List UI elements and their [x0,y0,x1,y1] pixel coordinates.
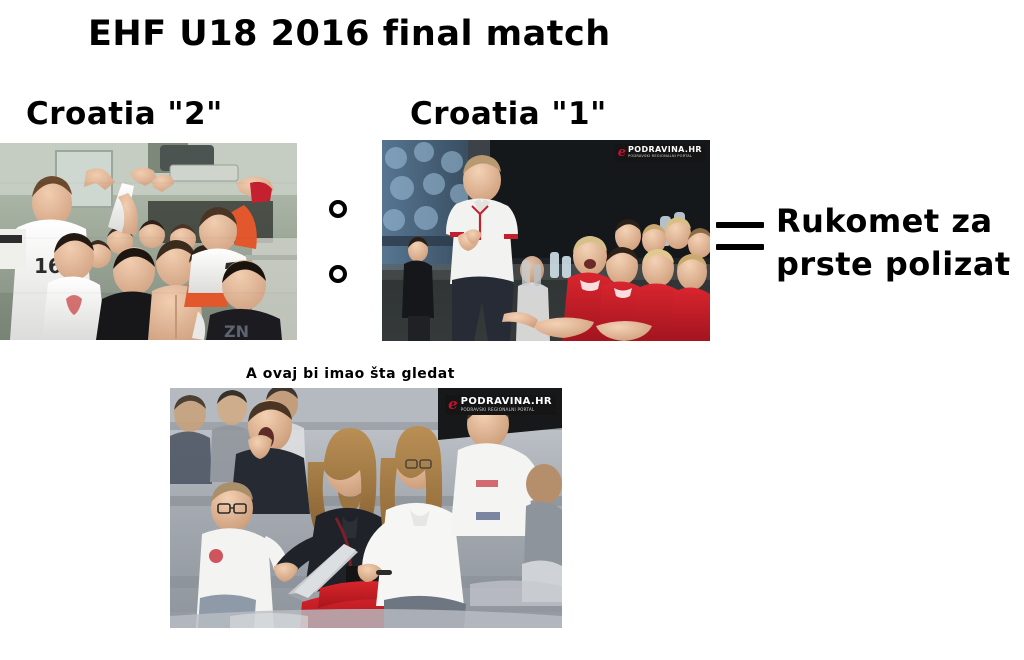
watermark-badge-icon: e [618,146,626,159]
watermark-sub-text: PODRAVSKI REGIONALNI PORTAL [628,155,702,159]
photo-croatia-2-art: 16 ZN [0,143,297,340]
photo-croatia-1-art [382,140,710,341]
equals-bar-top [716,222,764,228]
photo-croatia-2: 16 ZN [0,143,297,340]
watermark-badge-icon: e [448,397,458,412]
watermark-podravina: e PODRAVINA.HR PODRAVSKI REGIONALNI PORT… [615,144,706,162]
page-title: EHF U18 2016 final match [88,16,611,53]
result-text: Rukomet za prste polizat [776,200,1024,286]
left-team-label: Croatia "2" [26,98,223,131]
svg-text:ZN: ZN [224,322,249,340]
photo-croatia-1: e PODRAVINA.HR PODRAVSKI REGIONALNI PORT… [382,140,710,341]
watermark-podravina: e PODRAVINA.HR PODRAVSKI REGIONALNI PORT… [445,395,556,415]
photo-spectators: e PODRAVINA.HR PODRAVSKI REGIONALNI PORT… [170,388,562,628]
division-sign-icon [329,200,359,290]
equals-sign-icon [716,222,766,262]
division-dot-top [329,200,347,218]
watermark-main-text: PODRAVINA.HR [628,146,702,154]
photo-spectators-art [170,388,562,628]
watermark-main-text: PODRAVINA.HR [461,397,552,407]
division-dot-bottom [329,265,347,283]
bottom-photo-caption: A ovaj bi imao šta gledat [246,367,455,382]
watermark-sub-text: PODRAVSKI REGIONALNI PORTAL [461,408,552,412]
right-team-label: Croatia "1" [410,98,607,131]
equals-bar-bottom [716,244,764,250]
